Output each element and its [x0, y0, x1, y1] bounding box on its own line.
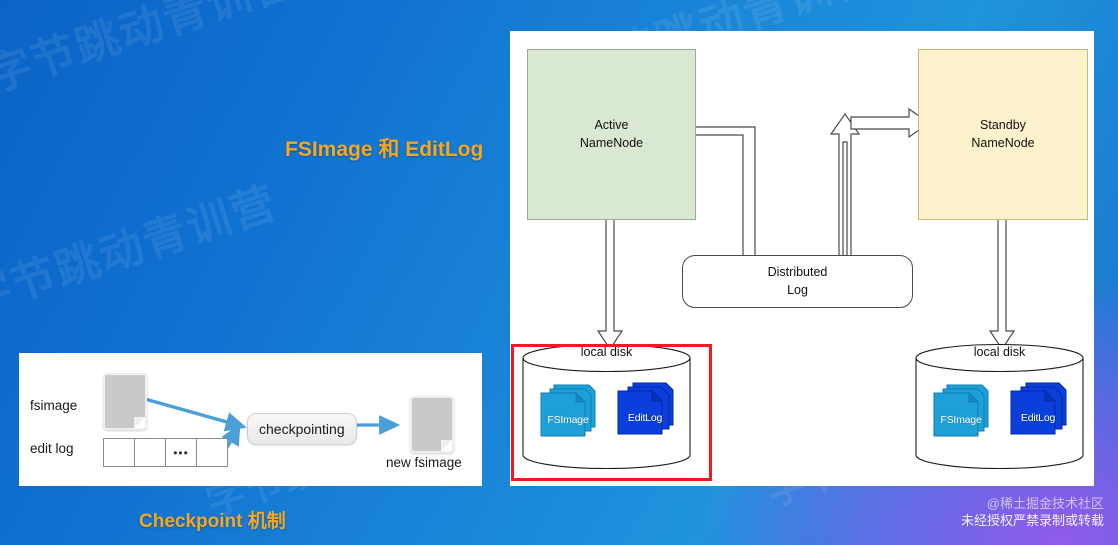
checkpoint-panel: fsimage edit log ••• checkpointing new f…: [19, 353, 482, 486]
community-watermark: @稀土掘金技术社区 未经授权严禁录制或转载: [961, 496, 1104, 529]
file-stack-label: EditLog: [1006, 412, 1070, 424]
label-fsimage: fsimage: [30, 398, 77, 413]
slide-canvas: 字节跳动青训营 字节跳动青训营 字节跳动青训营 字节跳动青训营 字节跳动青训营 …: [0, 0, 1118, 545]
document-icon-new-fsimage[interactable]: [410, 396, 454, 453]
storage-standby-local-disk[interactable]: local disk FSImage: [910, 339, 1089, 474]
editlog-cell-row[interactable]: •••: [103, 438, 228, 467]
label-new-fsimage: new fsimage: [386, 455, 462, 470]
section-title-checkpoint: Checkpoint 机制: [139, 506, 286, 533]
background-watermark: 字节跳动青训营: [0, 167, 284, 327]
highlight-box-active-disk: [511, 344, 712, 481]
checkpointing-box[interactable]: checkpointing: [247, 413, 357, 445]
node-standby-namenode-line1: Standby: [971, 117, 1034, 135]
file-stack-editlog[interactable]: EditLog: [1006, 379, 1070, 441]
file-stack-label: FSImage: [929, 414, 993, 426]
node-standby-namenode-line2: NameNode: [971, 135, 1034, 153]
editlog-cell[interactable]: [197, 439, 227, 466]
editlog-cell[interactable]: [135, 439, 166, 466]
ha-architecture-panel: Active NameNode Standby NameNode Distrib…: [510, 31, 1094, 486]
node-distributed-log[interactable]: Distributed Log: [682, 255, 913, 308]
editlog-cell[interactable]: [104, 439, 135, 466]
node-distributed-log-line1: Distributed: [768, 264, 828, 282]
document-stack-icon: [929, 381, 993, 443]
watermark-line-1: @稀土掘金技术社区: [961, 496, 1104, 513]
node-active-namenode-line1: Active: [580, 117, 643, 135]
document-stack-icon: [1006, 379, 1070, 441]
document-icon-fsimage[interactable]: [103, 373, 147, 430]
section-title-fsimage-editlog: FSImage 和 EditLog: [285, 133, 483, 163]
node-active-namenode-line2: NameNode: [580, 135, 643, 153]
node-active-namenode[interactable]: Active NameNode: [527, 49, 696, 220]
background-watermark: 字节跳动青训营: [0, 0, 304, 104]
file-stack-fsimage[interactable]: FSImage: [929, 381, 993, 443]
label-edit-log: edit log: [30, 441, 74, 456]
node-standby-namenode[interactable]: Standby NameNode: [918, 49, 1088, 220]
editlog-cell-ellipsis[interactable]: •••: [166, 439, 197, 466]
storage-label: local disk: [910, 345, 1089, 359]
node-distributed-log-line2: Log: [768, 282, 828, 300]
watermark-line-2: 未经授权严禁录制或转载: [961, 513, 1104, 530]
